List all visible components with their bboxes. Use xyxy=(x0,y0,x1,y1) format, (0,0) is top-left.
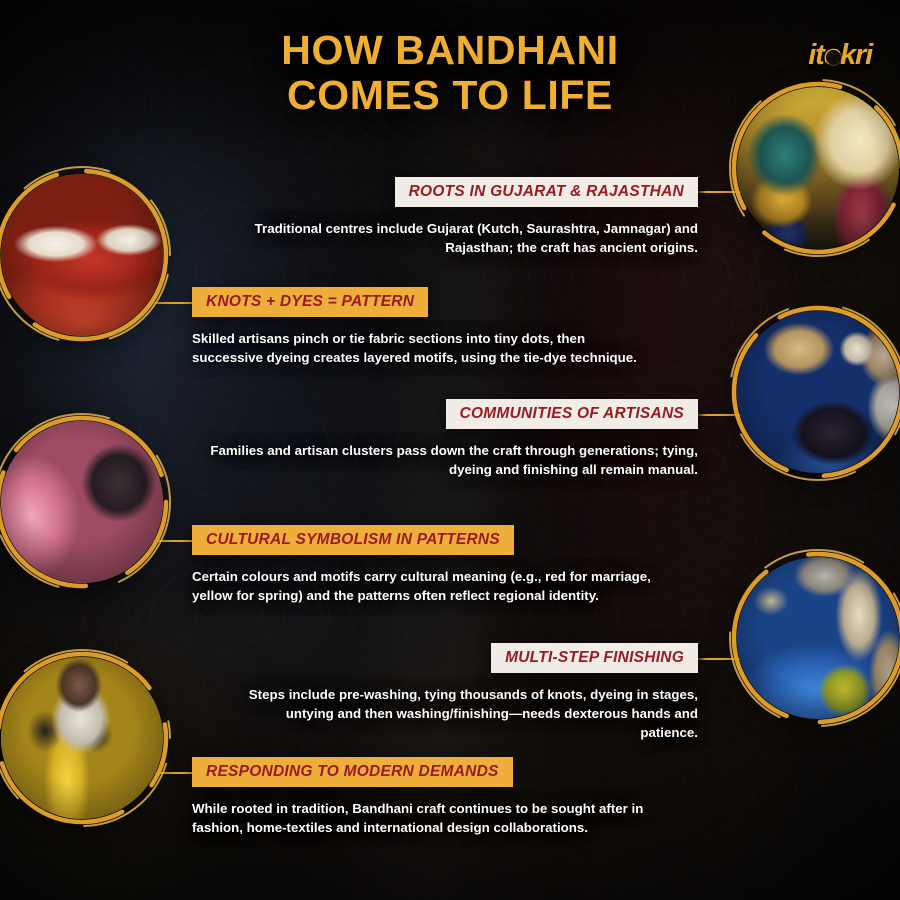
section-knots: KNOTS + DYES = PATTERN Skilled artisans … xyxy=(192,287,642,368)
photo-dyer-blue-tub xyxy=(728,302,900,482)
section-finishing-badge[interactable]: MULTI-STEP FINISHING xyxy=(491,643,698,673)
section-symbolism: CULTURAL SYMBOLISM IN PATTERNS Certain c… xyxy=(192,525,652,606)
photo-dyer-blue-tub-shadow xyxy=(737,311,899,473)
photo-dyer-yellow-cloth-shadow xyxy=(1,657,163,819)
section-knots-badge[interactable]: KNOTS + DYES = PATTERN xyxy=(192,287,428,317)
section-roots-body: Traditional centres include Gujarat (Kut… xyxy=(228,220,698,257)
photo-dyer-blue-tub-disc xyxy=(737,311,899,473)
page-title: HOW BANDHANI COMES TO LIFE xyxy=(0,28,900,118)
section-finishing-body: Steps include pre-washing, tying thousan… xyxy=(228,686,698,742)
photo-dyer-yellow-cloth-disc xyxy=(1,657,163,819)
brand-logo-text: itokri xyxy=(768,34,872,76)
photo-women-artisans-tying-disc xyxy=(1,421,163,583)
section-modern: RESPONDING TO MODERN DEMANDS While roote… xyxy=(192,757,662,838)
photo-blue-dye-vat-shadow xyxy=(737,557,899,719)
section-communities: COMMUNITIES OF ARTISANS Families and art… xyxy=(208,399,698,480)
section-modern-body: While rooted in tradition, Bandhani craf… xyxy=(192,800,662,837)
section-roots: ROOTS IN GUJARAT & RAJASTHAN Traditional… xyxy=(228,177,698,258)
section-symbolism-body: Certain colours and motifs carry cultura… xyxy=(192,568,652,605)
section-symbolism-badge[interactable]: CULTURAL SYMBOLISM IN PATTERNS xyxy=(192,525,514,555)
section-knots-body: Skilled artisans pinch or tie fabric sec… xyxy=(192,330,642,367)
brand-logo-dot-icon xyxy=(826,50,841,65)
section-communities-body: Families and artisan clusters pass down … xyxy=(208,442,698,479)
photo-tying-red-fabric-disc xyxy=(1,174,163,336)
page-title-line-2: COMES TO LIFE xyxy=(0,73,900,118)
photo-dyer-yellow-cloth xyxy=(0,648,172,828)
photo-tying-red-fabric-shadow xyxy=(1,174,163,336)
brand-logo[interactable]: itokri xyxy=(768,34,872,76)
photo-women-artisans-tying-shadow xyxy=(1,421,163,583)
page-title-line-1: HOW BANDHANI xyxy=(0,28,900,73)
section-modern-badge[interactable]: RESPONDING TO MODERN DEMANDS xyxy=(192,757,513,787)
photo-women-artisans-tying xyxy=(0,412,172,592)
section-finishing: MULTI-STEP FINISHING Steps include pre-w… xyxy=(228,643,698,742)
photo-blue-dye-vat-disc xyxy=(737,557,899,719)
infographic-poster: HOW BANDHANI COMES TO LIFE itokri xyxy=(0,0,900,900)
section-communities-badge[interactable]: COMMUNITIES OF ARTISANS xyxy=(446,399,698,429)
photo-tying-red-fabric xyxy=(0,165,172,345)
photo-blue-dye-vat xyxy=(728,548,900,728)
section-roots-badge[interactable]: ROOTS IN GUJARAT & RAJASTHAN xyxy=(395,177,698,207)
